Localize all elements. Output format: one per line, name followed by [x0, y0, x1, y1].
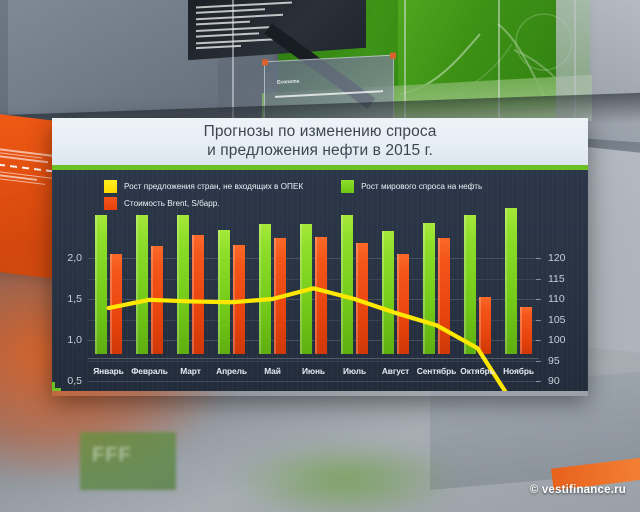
y-axis-left-tick: 1,5	[67, 293, 82, 305]
x-axis-labels: ЯнварьФевральМартАпрельМайИюньИюльАвгуст…	[88, 359, 539, 383]
legend-swatch-yellow-icon	[104, 180, 117, 193]
y-axis-left-tick: 1,0	[67, 334, 82, 346]
legend-row-bottom: Стоимость Brent, S/барр.	[104, 195, 574, 212]
y-axis-right-tick: 110	[548, 293, 565, 305]
legend-item-nonopec-supply[interactable]: Рост предложения стран, не входящих в ОП…	[104, 180, 303, 193]
x-axis-label: Июль	[334, 366, 375, 376]
x-axis-label: Июнь	[293, 366, 334, 376]
legend-label-nonopec-supply: Рост предложения стран, не входящих в ОП…	[124, 182, 303, 191]
background-green-box: FFF	[80, 432, 176, 490]
x-axis-label: Сентябрь	[416, 366, 457, 376]
watermark: © vestifinance.ru	[530, 484, 626, 496]
y-axis-right-tick: 120	[548, 252, 566, 264]
legend-swatch-green-icon	[341, 180, 354, 193]
x-axis-label: Май	[252, 366, 293, 376]
x-axis-label: Октябрь	[457, 366, 498, 376]
y-axis-left-tick: 0,5	[67, 375, 82, 387]
legend-label-world-demand: Рост мирового спроса на нефть	[361, 182, 482, 191]
page-title-line1: Прогнозы по изменению спроса	[204, 123, 437, 142]
x-axis-label: Март	[170, 366, 211, 376]
panel-corner-accent	[52, 382, 61, 391]
background-monitor-label: Econome	[277, 79, 300, 86]
y-axis-right-tick: 100	[548, 334, 566, 346]
legend-swatch-orange-icon	[104, 197, 117, 210]
x-axis-label: Ноябрь	[498, 366, 539, 376]
legend-item-brent-price[interactable]: Стоимость Brent, S/барр.	[104, 197, 220, 210]
background-green-box-label: FFF	[92, 444, 132, 467]
x-axis-label: Февраль	[129, 366, 170, 376]
y-axis-left-tick: 2,0	[67, 252, 82, 264]
chart-legend: Рост предложения стран, не входящих в ОП…	[104, 178, 574, 212]
y-axis-right-tick: 95	[548, 355, 560, 367]
x-axis-label: Апрель	[211, 366, 252, 376]
chart-area: Рост предложения стран, не входящих в ОП…	[52, 170, 588, 391]
x-axis-label: Январь	[88, 366, 129, 376]
legend-label-brent-price: Стоимость Brent, S/барр.	[124, 199, 220, 208]
page-title-line2: и предложения нефти в 2015 г.	[207, 142, 433, 161]
y-axis-right-tick: 105	[548, 314, 566, 326]
legend-row-top: Рост предложения стран, не входящих в ОП…	[104, 178, 574, 195]
background-glass-panel-top	[8, 0, 218, 124]
legend-item-world-demand[interactable]: Рост мирового спроса на нефть	[341, 180, 482, 193]
background-divider-line	[232, 0, 234, 120]
y-axis-right: 80859095100105110115120	[542, 258, 584, 391]
background-green-blur	[230, 440, 460, 512]
y-axis-right-tick: 90	[548, 375, 560, 387]
infographic-panel: Прогнозы по изменению спроса и предложен…	[52, 118, 588, 396]
panel-header: Прогнозы по изменению спроса и предложен…	[52, 118, 588, 170]
x-axis-label: Август	[375, 366, 416, 376]
y-axis-right-tick: 115	[548, 273, 565, 285]
plot-area	[88, 258, 539, 354]
y-axis-left: 0,00,51,01,52,0	[52, 258, 86, 391]
